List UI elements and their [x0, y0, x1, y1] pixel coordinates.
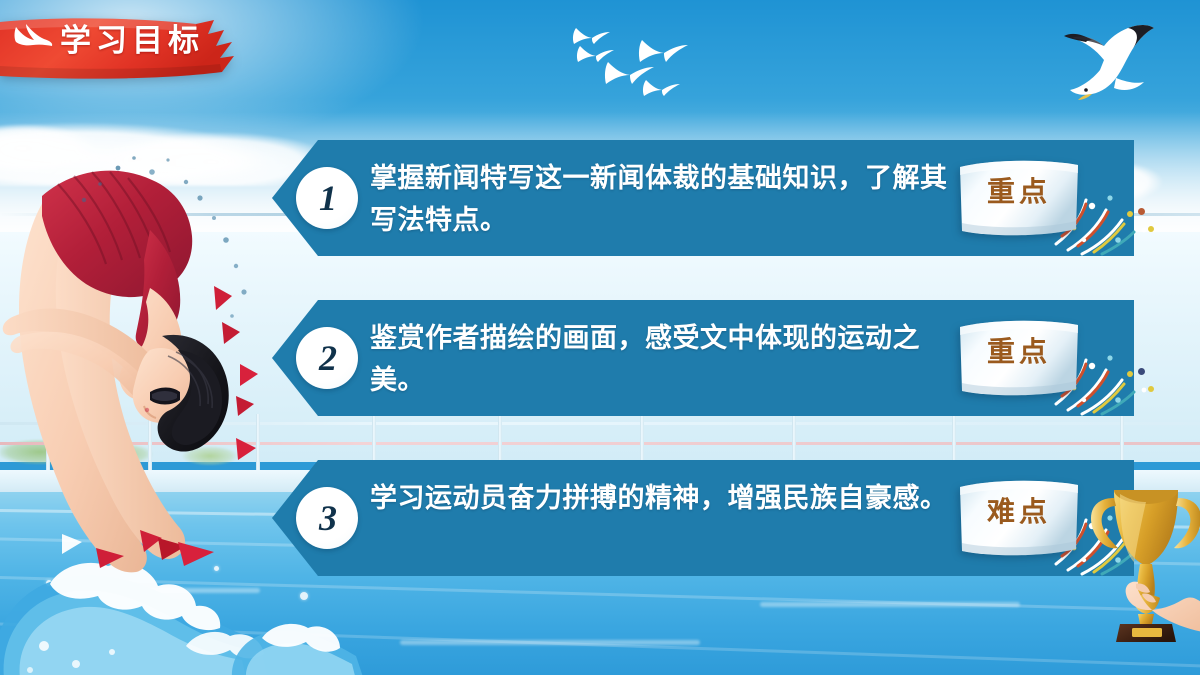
priority-label: 重点 — [958, 338, 1080, 366]
confetti-dot — [1148, 226, 1154, 232]
slide-canvas: 学习目标 1 — [0, 0, 1200, 675]
goals-list: 1 掌握新闻特写这一新闻体裁的基础知识，了解其写法特点。 — [272, 140, 1134, 592]
goal-text: 掌握新闻特写这一新闻体裁的基础知识，了解其写法特点。 — [370, 158, 958, 242]
goal-row[interactable]: 1 掌握新闻特写这一新闻体裁的基础知识，了解其写法特点。 — [272, 140, 1134, 256]
page-title: 学习目标 — [60, 26, 204, 57]
priority-label: 重点 — [958, 178, 1080, 206]
seagull-icon — [1052, 20, 1184, 120]
goal-row[interactable]: 2 鉴赏作者描绘的画面，感受文中体现的运动之美。 — [272, 300, 1134, 416]
bird-flock-icon — [570, 18, 770, 98]
goal-text: 学习运动员奋力拼搏的精神，增强民族自豪感。 — [370, 478, 958, 520]
priority-label: 难点 — [958, 498, 1080, 526]
seagull-icon — [14, 23, 54, 49]
goal-number-badge: 1 — [296, 167, 358, 229]
confetti-dot — [1138, 368, 1145, 375]
goal-number-badge: 3 — [296, 487, 358, 549]
confetti-dot — [1148, 386, 1154, 392]
goal-row[interactable]: 3 学习运动员奋力拼搏的精神，增强民族自豪感。 — [272, 460, 1134, 576]
gold-trophy-icon — [1086, 464, 1200, 644]
goal-number-badge: 2 — [296, 327, 358, 389]
goal-text: 鉴赏作者描绘的画面，感受文中体现的运动之美。 — [370, 318, 958, 402]
female-diver-illustration — [0, 138, 300, 608]
confetti-dot — [1138, 208, 1145, 215]
